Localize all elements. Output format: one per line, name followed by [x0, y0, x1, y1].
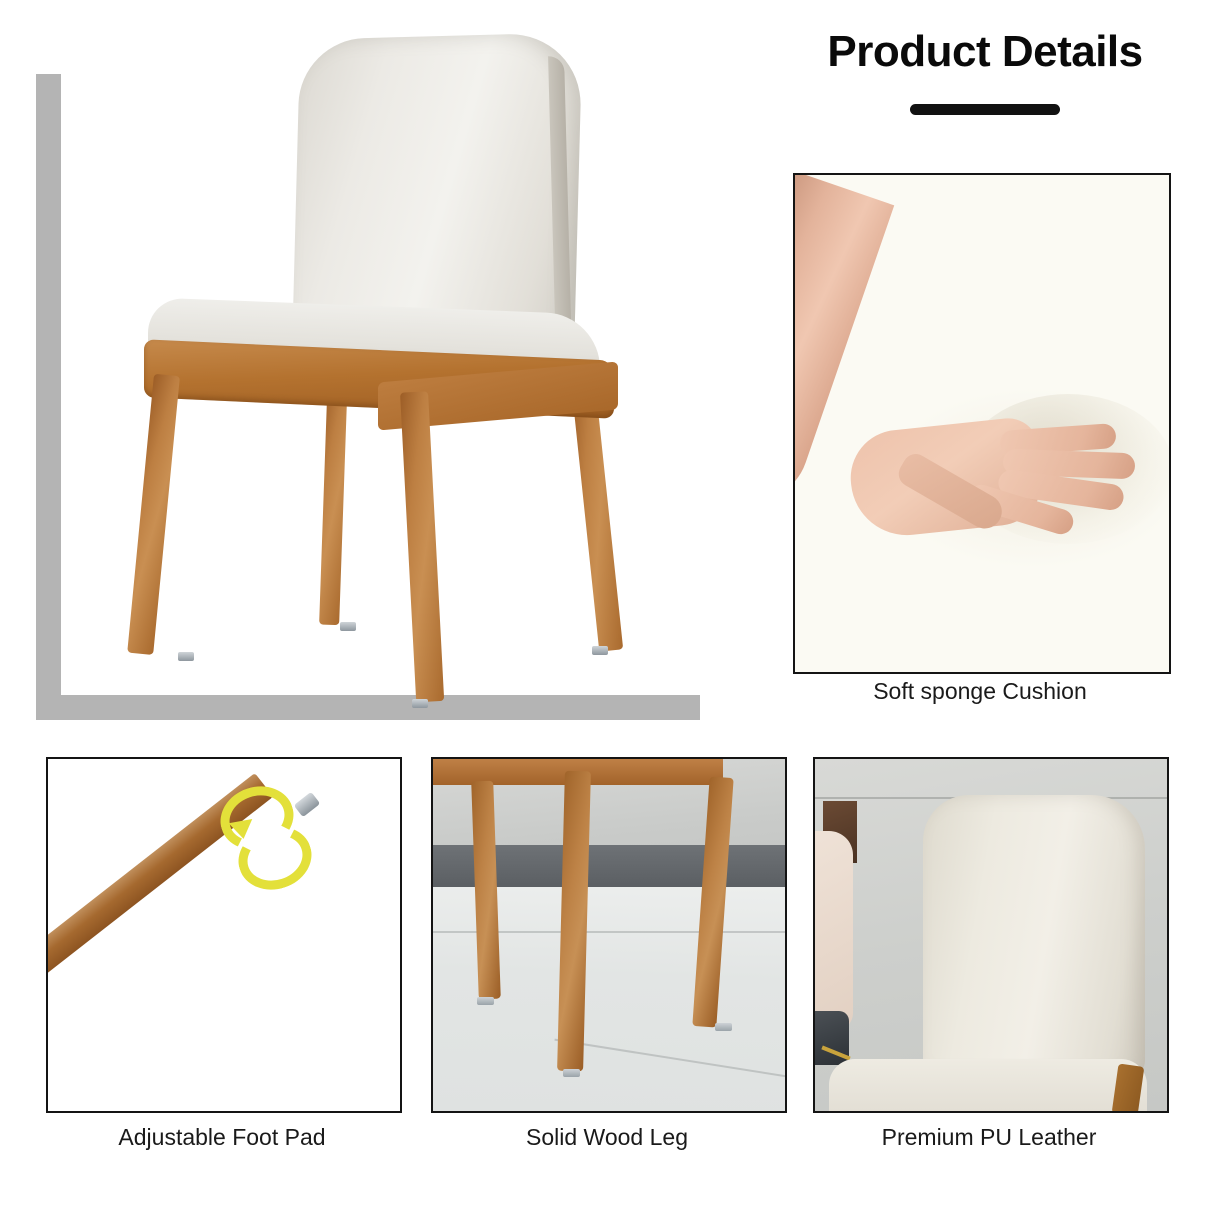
- adjacent-chair-edge: [813, 831, 853, 1031]
- pu-leather-seat: [829, 1059, 1147, 1113]
- title-block: Product Details: [790, 28, 1180, 115]
- chair-leg-front-right: [400, 391, 444, 702]
- wood-leg-foot-right: [715, 1023, 732, 1031]
- feature-photo-woodleg: [431, 757, 787, 1113]
- wood-leg-foot-left: [477, 997, 494, 1005]
- feature-photo-cushion: [793, 173, 1171, 674]
- hero-product-image: [0, 0, 760, 740]
- chair-foot-back-right: [592, 646, 608, 655]
- title-underline-bar: [910, 104, 1060, 115]
- chair-illustration: [100, 20, 660, 720]
- feature-photo-footpad: [46, 757, 402, 1113]
- chair-leg-front-left: [127, 374, 180, 655]
- caption-footpad: Adjustable Foot Pad: [46, 1124, 398, 1151]
- metal-foot-pad-screw: [294, 792, 321, 817]
- caption-leather: Premium PU Leather: [813, 1124, 1165, 1151]
- chair-foot-back-left: [340, 622, 356, 631]
- pu-leather-backrest: [923, 795, 1145, 1075]
- chair-foot-front-right: [412, 699, 428, 708]
- backdrop-vertical-bar: [36, 74, 61, 720]
- caption-woodleg: Solid Wood Leg: [431, 1124, 783, 1151]
- wood-leg-foot-center: [563, 1069, 580, 1077]
- chair-foot-front-left: [178, 652, 194, 661]
- chair-leg-back-left: [319, 370, 348, 626]
- feature-photo-leather: [813, 757, 1169, 1113]
- caption-cushion: Soft sponge Cushion: [793, 678, 1167, 705]
- page-title: Product Details: [790, 28, 1180, 76]
